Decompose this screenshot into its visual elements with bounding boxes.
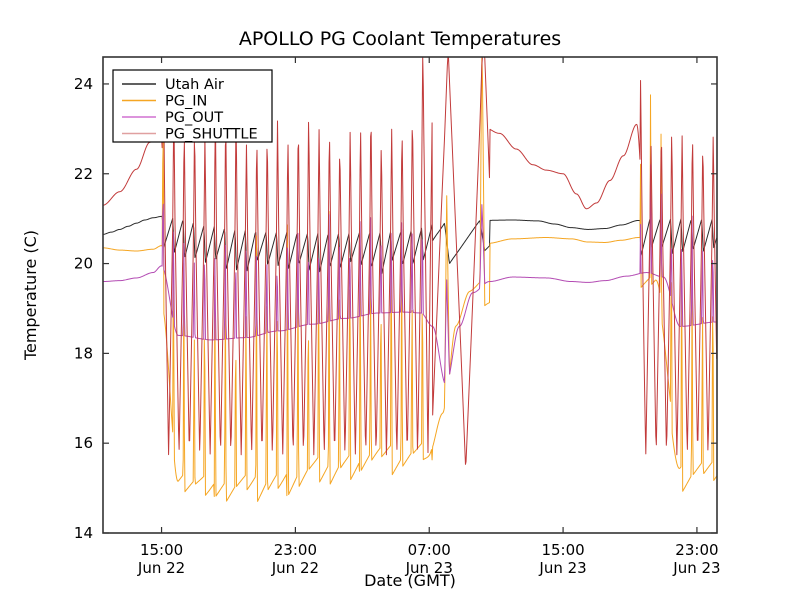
y-tick-label: 22 bbox=[74, 165, 93, 183]
x-axis-label: Date (GMT) bbox=[364, 571, 456, 590]
legend-label-utah air: Utah Air bbox=[165, 77, 224, 93]
figure-canvas: APOLLO PG Coolant Temperatures 141618202… bbox=[0, 0, 800, 600]
x-tick-label-time: 23:00 bbox=[274, 541, 317, 559]
x-tick-label-time: 23:00 bbox=[675, 541, 718, 559]
y-tick-label: 16 bbox=[74, 434, 93, 452]
x-tick-label-date: Jun 23 bbox=[538, 559, 586, 577]
chart-title: APOLLO PG Coolant Temperatures bbox=[239, 28, 561, 50]
x-tick-label-time: 07:00 bbox=[408, 541, 451, 559]
y-tick-label: 14 bbox=[74, 524, 93, 542]
y-tick-label: 18 bbox=[74, 344, 93, 362]
legend-label-pg-shuttle: PG_SHUTTLE bbox=[165, 127, 258, 143]
legend-label-pg-out: PG_OUT bbox=[165, 110, 223, 126]
x-tick-label-date: Jun 22 bbox=[271, 559, 319, 577]
chart-plot: APOLLO PG Coolant Temperatures 141618202… bbox=[0, 0, 800, 600]
x-tick-label-date: Jun 23 bbox=[672, 559, 720, 577]
chart-legend: Utah AirPG_INPG_OUTPG_SHUTTLE bbox=[113, 70, 272, 143]
x-tick-label-time: 15:00 bbox=[541, 541, 584, 559]
y-axis-label: Temperature (C) bbox=[21, 230, 40, 361]
legend-label-pg-in: PG_IN bbox=[165, 94, 207, 110]
x-tick-label-time: 15:00 bbox=[140, 541, 183, 559]
y-tick-label: 20 bbox=[74, 255, 93, 273]
x-tick-label-date: Jun 22 bbox=[137, 559, 185, 577]
y-tick-label: 24 bbox=[74, 75, 93, 93]
